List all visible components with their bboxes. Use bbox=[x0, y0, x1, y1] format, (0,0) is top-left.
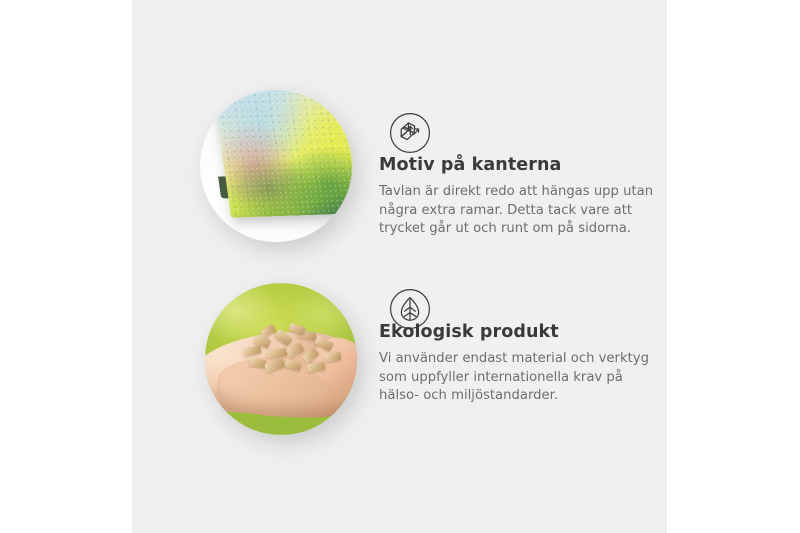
canvas-face bbox=[212, 90, 352, 218]
feature-text-column: Motiv på kanterna Tavlan är direkt redo … bbox=[379, 155, 659, 239]
feature-text-column: Ekologisk produkt Vi använder endast mat… bbox=[379, 322, 659, 406]
feature-description: Vi använder endast material och verktyg … bbox=[379, 350, 659, 406]
feature-title: Ekologisk produkt bbox=[379, 322, 659, 343]
canvas-print-photo bbox=[200, 90, 352, 242]
eco-scene bbox=[205, 283, 357, 435]
eco-hands-woodchips-photo bbox=[205, 283, 357, 435]
canvas-scene bbox=[200, 90, 352, 242]
wood-chips-pile bbox=[241, 325, 345, 377]
photo-circle-mask bbox=[200, 90, 352, 242]
feature-description: Tavlan är direkt redo att hängas upp uta… bbox=[379, 183, 659, 239]
feature-block-ekologisk-produkt: Ekologisk produkt Vi använder endast mat… bbox=[132, 262, 667, 442]
feature-title: Motiv på kanterna bbox=[379, 155, 659, 176]
product-feature-infographic: Motiv på kanterna Tavlan är direkt redo … bbox=[0, 0, 800, 533]
feature-block-motiv-pa-kanterna: Motiv på kanterna Tavlan är direkt redo … bbox=[132, 70, 667, 255]
photo-circle-mask bbox=[205, 283, 357, 435]
canvas-edge-wrap-icon bbox=[389, 112, 431, 154]
paint-texture bbox=[212, 90, 352, 218]
